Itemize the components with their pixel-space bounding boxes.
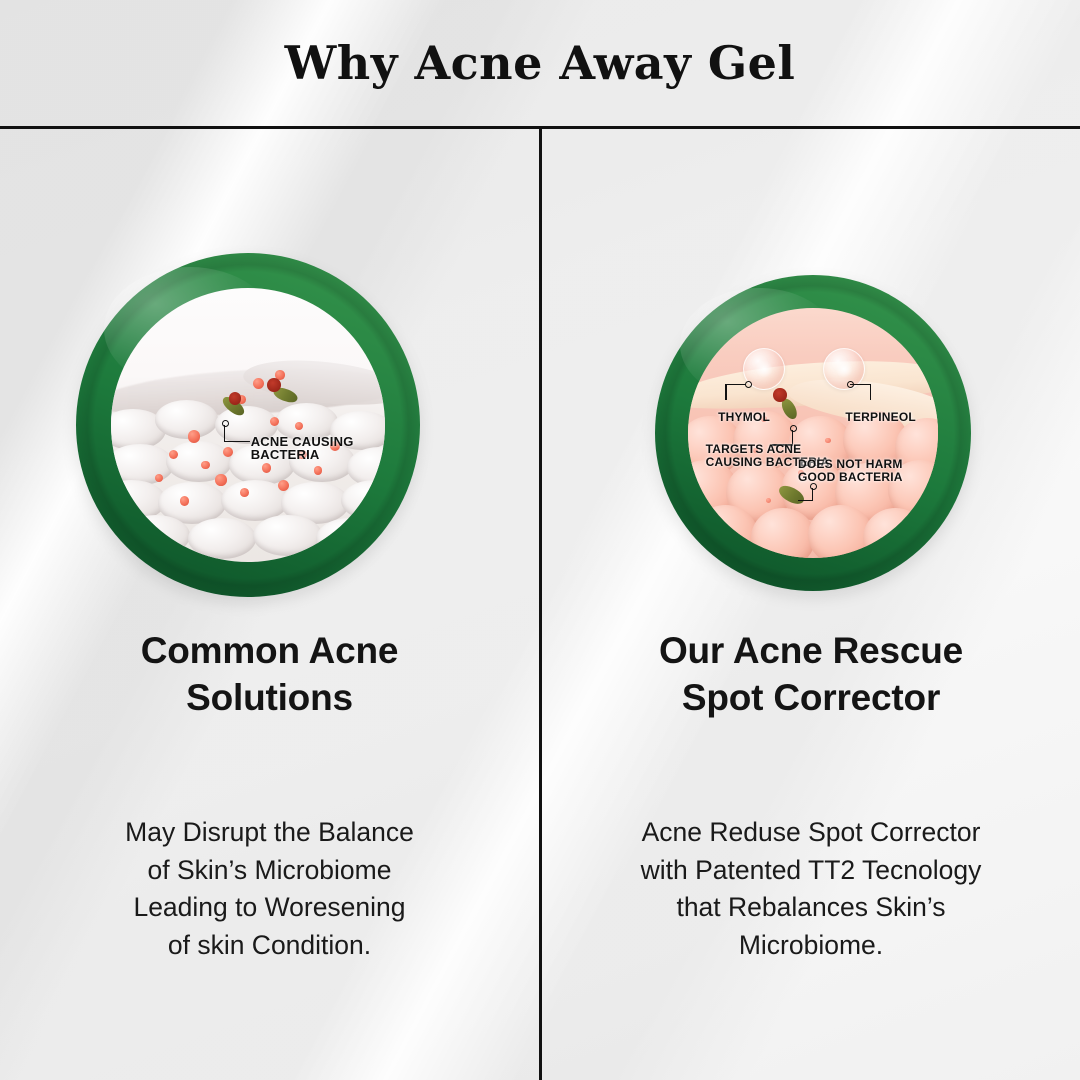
body-line: of skin Condition. <box>0 927 539 965</box>
heading-line: Common Acne <box>0 627 539 674</box>
column-acne-rescue-spot-corrector: Our Acne Rescue Spot Corrector Acne Redu… <box>542 129 1080 1080</box>
body-line: Microbiome. <box>542 927 1080 965</box>
column-common-acne-solutions: Common Acne Solutions May Disrupt the Ba… <box>0 129 539 1080</box>
heading-line: Spot Corrector <box>542 674 1080 721</box>
infographic-page: Why Acne Away Gel <box>0 0 1080 1080</box>
header: Why Acne Away Gel <box>0 0 1080 126</box>
column-body-right: Acne Reduse Spot Corrector with Patented… <box>542 814 1080 965</box>
column-heading-left: Common Acne Solutions <box>0 627 539 722</box>
heading-line: Solutions <box>0 674 539 721</box>
body-line: Leading to Woresening <box>0 889 539 927</box>
column-heading-right: Our Acne Rescue Spot Corrector <box>542 627 1080 722</box>
heading-line: Our Acne Rescue <box>542 627 1080 674</box>
page-title: Why Acne Away Gel <box>285 36 796 90</box>
body-line: of Skin’s Microbiome <box>0 852 539 890</box>
body-line: with Patented TT2 Tecnology <box>542 852 1080 890</box>
body-line: May Disrupt the Balance <box>0 814 539 852</box>
body-line: that Rebalances Skin’s <box>542 889 1080 927</box>
column-body-left: May Disrupt the Balance of Skin’s Microb… <box>0 814 539 965</box>
body-line: Acne Reduse Spot Corrector <box>542 814 1080 852</box>
